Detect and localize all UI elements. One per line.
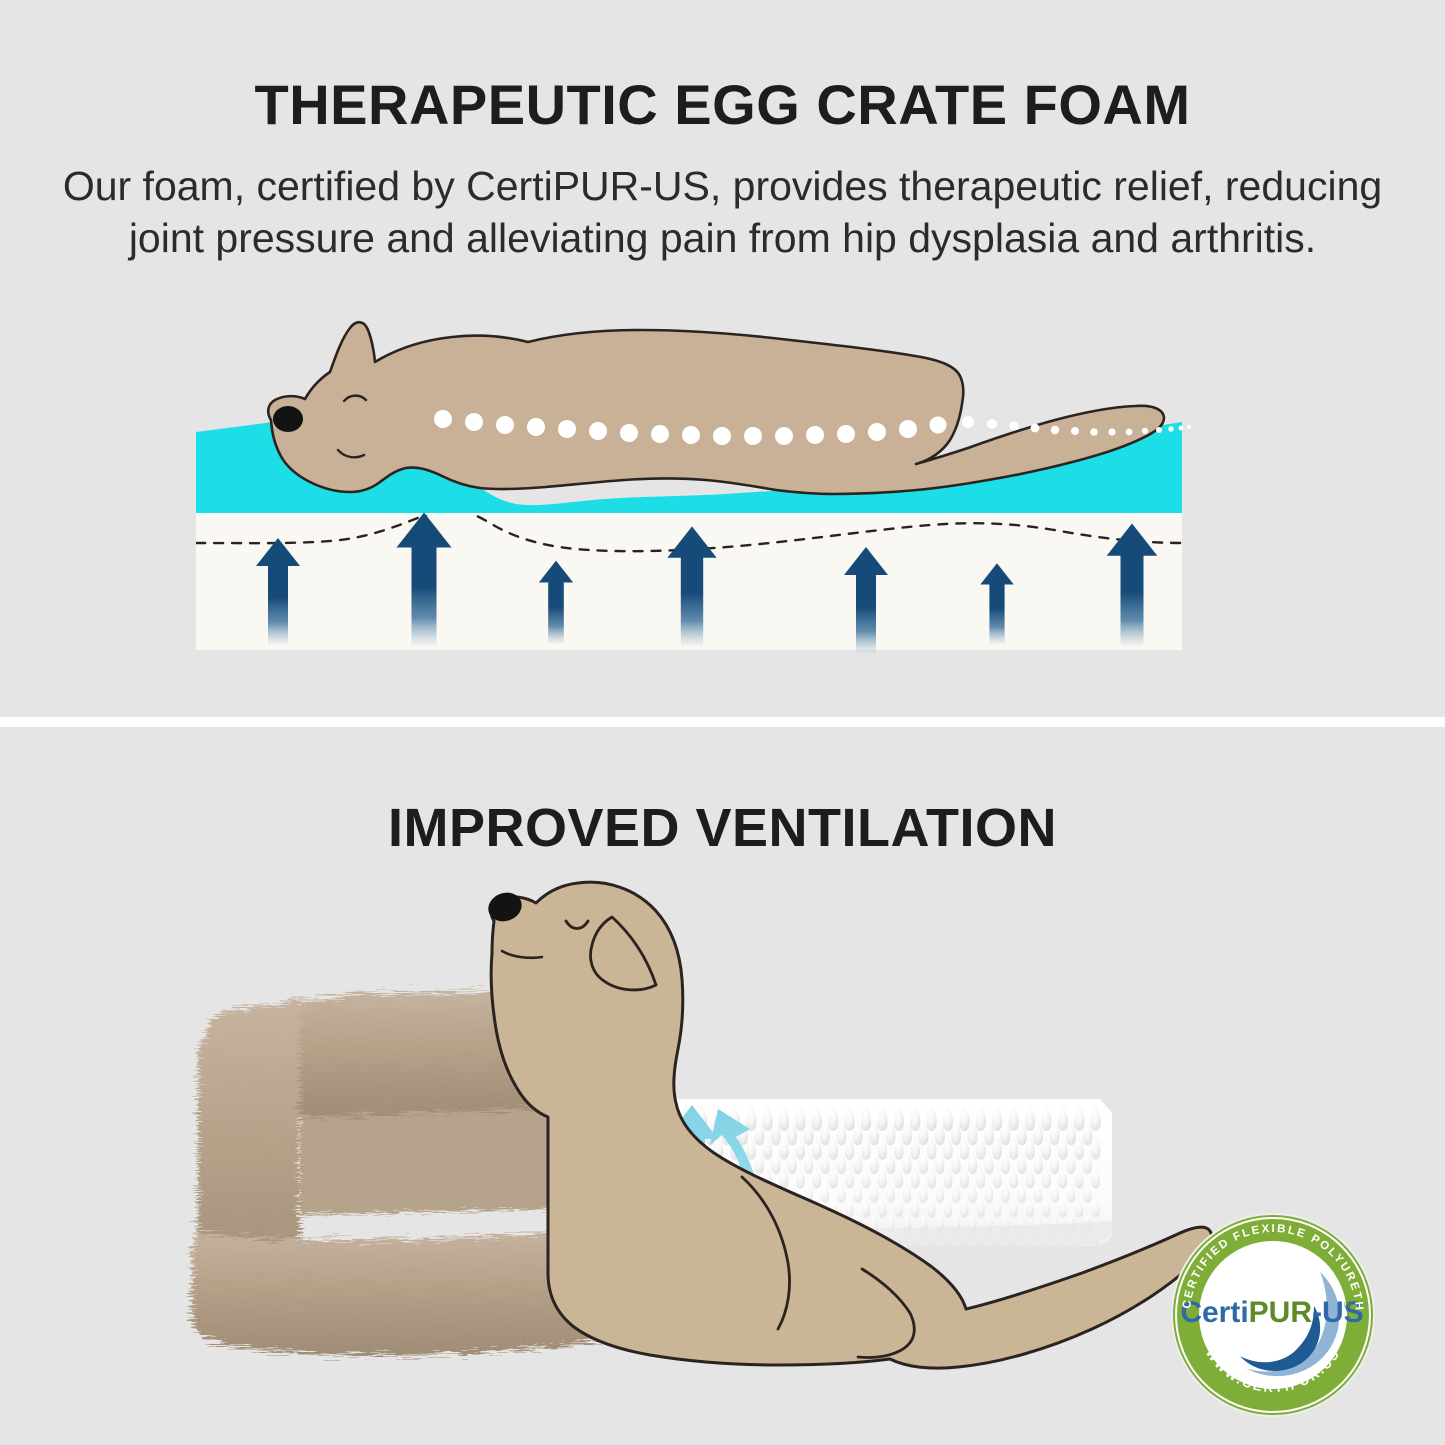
dog-body-top <box>268 322 1164 494</box>
dog-nose-top <box>273 406 303 432</box>
certipur-us-badge: CertiPUR-US ® CONTAINS CERTIFIED FLEXIBL… <box>1168 1210 1378 1420</box>
bottom-section-headline: IMPROVED VENTILATION <box>0 797 1445 859</box>
section-improved-ventilation: IMPROVED VENTILATION <box>0 727 1445 1445</box>
badge-registered-mark: ® <box>1344 1300 1352 1311</box>
section-divider <box>0 717 1445 727</box>
infographic-page: THERAPEUTIC EGG CRATE FOAM Our foam, cer… <box>0 0 1445 1445</box>
top-section-headline: THERAPEUTIC EGG CRATE FOAM <box>0 72 1445 137</box>
top-section-subtext: Our foam, certified by CertiPUR-US, prov… <box>63 160 1383 264</box>
dog-lying-on-foam-cross-section-illustration <box>0 300 1445 717</box>
badge-center-text: CertiPUR-US <box>1180 1296 1363 1329</box>
section-therapeutic-foam: THERAPEUTIC EGG CRATE FOAM Our foam, cer… <box>0 0 1445 717</box>
